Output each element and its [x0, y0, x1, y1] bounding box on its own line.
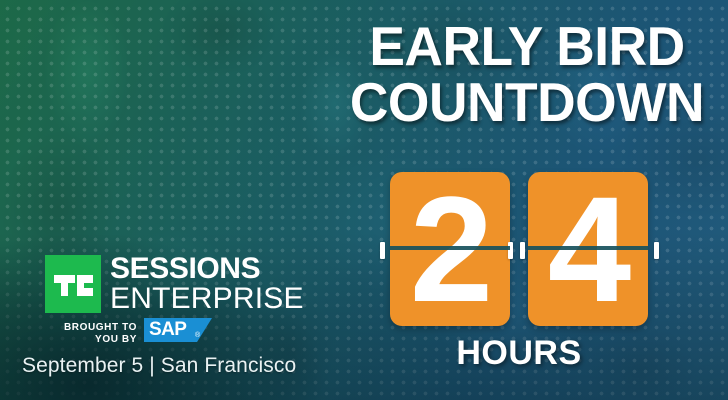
sponsor-prefix: BROUGHT TO YOU BY — [45, 322, 137, 346]
flip-hinge-tick-middle-left — [508, 242, 513, 259]
headline-line-1: EARLY BIRD — [338, 18, 716, 74]
page-title: EARLY BIRD COUNTDOWN — [338, 18, 716, 130]
brand-name-sessions: SESSIONS — [110, 253, 260, 284]
tc-letter-t-stem — [61, 275, 68, 296]
promo-banner: EARLY BIRD COUNTDOWN 2 4 HOURS SESSIONS … — [0, 0, 728, 400]
sponsor-prefix-line-1: BROUGHT TO — [45, 322, 137, 334]
flip-split-line-ones — [528, 246, 648, 250]
sap-logo: SAP — [144, 318, 212, 342]
countdown-timer: 2 4 — [374, 170, 664, 328]
tc-letter-c-bottom — [77, 288, 93, 296]
event-details: September 5 | San Francisco — [22, 354, 296, 378]
countdown-digit-card-tens: 2 — [390, 172, 510, 326]
flip-hinge-tick-middle-right — [520, 242, 525, 259]
brand-name-enterprise: ENTERPRISE — [110, 283, 304, 314]
countdown-digit-card-ones: 4 — [528, 172, 648, 326]
flip-hinge-tick-right — [654, 242, 659, 259]
flip-split-line-tens — [390, 246, 510, 250]
brand-lockup: SESSIONS ENTERPRISE BROUGHT TO YOU BY SA… — [22, 252, 322, 384]
flip-hinge-tick-left — [380, 242, 385, 259]
sponsor-prefix-line-2: YOU BY — [45, 334, 137, 346]
headline-line-2: COUNTDOWN — [338, 74, 716, 130]
techcrunch-logo-icon — [45, 255, 101, 313]
sap-trademark-icon: ® — [195, 332, 200, 340]
countdown-unit-label: HOURS — [374, 335, 664, 371]
